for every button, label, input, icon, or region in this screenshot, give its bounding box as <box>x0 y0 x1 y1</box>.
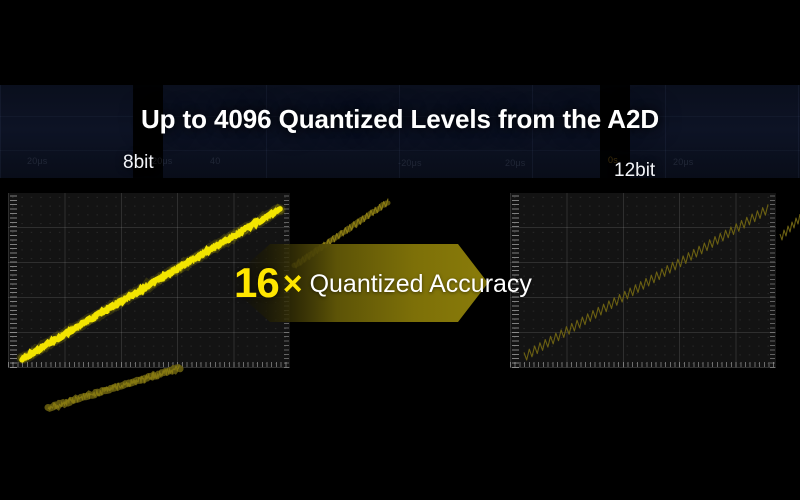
scope-panel-12bit <box>510 193 776 368</box>
right-panel-label: 12bit <box>614 160 655 182</box>
page-title: Up to 4096 Quantized Levels from the A2D <box>0 104 800 135</box>
quantized-accuracy-badge: 16 × Quantized Accuracy <box>226 240 488 326</box>
background-scope-band <box>0 85 800 185</box>
badge-caption: Quantized Accuracy <box>310 272 532 297</box>
badge-text-group: 16 × Quantized Accuracy <box>226 240 488 326</box>
band-bottom-mask <box>0 178 800 194</box>
slide-canvas: 20μs 20μs 40 -20μs 20μs 0s 20μs Up to 40… <box>0 0 800 500</box>
badge-multiplier: 16 <box>234 262 279 304</box>
background-grid <box>0 85 800 185</box>
ghost-trace-far-right <box>778 214 800 242</box>
bg-tick-label: 20μs <box>505 158 526 168</box>
bg-tick-label: 20μs <box>27 156 48 166</box>
bg-tick-label: 40 <box>210 156 220 166</box>
ghost-trace-bottom-left <box>40 362 200 414</box>
bg-tick-label: 20μs <box>152 156 173 166</box>
badge-times-symbol: × <box>283 267 303 301</box>
bottom-letterbox <box>0 412 800 500</box>
bg-tick-label: 20μs <box>673 157 694 167</box>
bg-tick-label: -20μs <box>398 158 422 168</box>
waveform-12bit <box>510 193 776 368</box>
left-panel-label: 8bit <box>123 152 154 174</box>
